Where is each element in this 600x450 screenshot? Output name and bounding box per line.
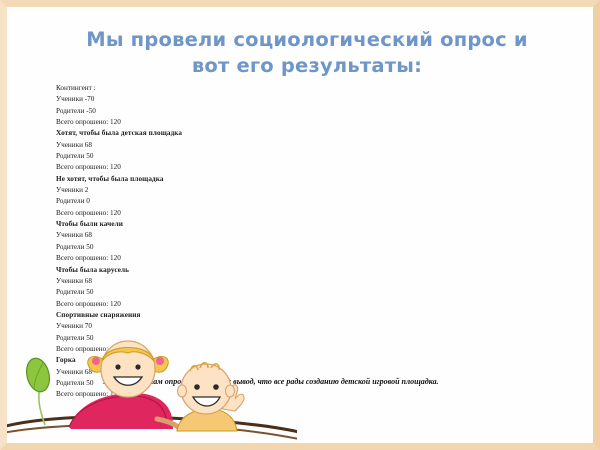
survey-stat-line: Ученики 68 <box>52 230 312 241</box>
survey-stat-line: Всего опрошено: 120 <box>52 253 312 264</box>
survey-stat-line: Всего опрошено: 120 <box>52 389 312 400</box>
survey-stat-line: Родители 50 <box>52 333 312 344</box>
survey-stat-line: Всего опрошено: 120 <box>52 299 312 310</box>
survey-stat-line: Ученики -70 <box>52 94 312 105</box>
survey-stat-line: Всего опрошено: 120 <box>52 344 312 355</box>
survey-stat-line: Всего опрошено: 120 <box>52 162 312 173</box>
page-title-line-1: Мы провели социологический опрос и <box>77 27 537 53</box>
survey-section-heading: Спортивные снаряжения <box>52 310 312 321</box>
conclusion-text: По результатам опроса мы сделали вывод, … <box>103 376 563 387</box>
survey-section-heading: Контингент : <box>52 83 312 94</box>
girl-dress-outline-icon <box>69 396 167 427</box>
survey-stat-line: Всего опрошено: 120 <box>52 117 312 128</box>
survey-stat-line: Ученики 68 <box>52 276 312 287</box>
survey-stat-line: Всего опрошено: 120 <box>52 208 312 219</box>
survey-section-heading: Чтобы была карусель <box>52 265 312 276</box>
survey-stat-line: Ученики 70 <box>52 321 312 332</box>
survey-section-heading: Хотят, чтобы была детская площадка <box>52 128 312 139</box>
survey-section-heading: Не хотят, чтобы была площадка <box>52 174 312 185</box>
survey-results-list: Контингент :Ученики -70Родители -50 Всег… <box>52 83 312 401</box>
survey-stat-line: Родители 50 <box>52 151 312 162</box>
leaf-vein-icon <box>34 363 43 389</box>
page-title: Мы провели социологический опрос и вот е… <box>77 27 537 79</box>
survey-stat-line: Ученики 68 <box>52 140 312 151</box>
leaf-icon <box>23 356 53 394</box>
slide-canvas: Мы провели социологический опрос и вот е… <box>7 7 593 443</box>
survey-stat-line: Родители -50 <box>52 106 312 117</box>
survey-stat-line: Родители 50 <box>52 242 312 253</box>
branch-shadow-icon <box>7 425 297 439</box>
survey-stat-line: Ученики 2 <box>52 185 312 196</box>
survey-section-heading: Чтобы были качели <box>52 219 312 230</box>
page-title-line-2: вот его результаты: <box>77 53 537 79</box>
survey-stat-line: Родители 0 <box>52 196 312 207</box>
survey-stat-line: Родители 50 <box>52 287 312 298</box>
leaf-stem-icon <box>39 387 45 425</box>
girl-arm-icon <box>157 419 179 428</box>
branch-icon <box>7 417 297 432</box>
boy-body-icon <box>177 409 237 431</box>
presentation-slide: Мы провели социологический опрос и вот е… <box>0 0 600 450</box>
survey-section-heading: Горка <box>52 355 312 366</box>
